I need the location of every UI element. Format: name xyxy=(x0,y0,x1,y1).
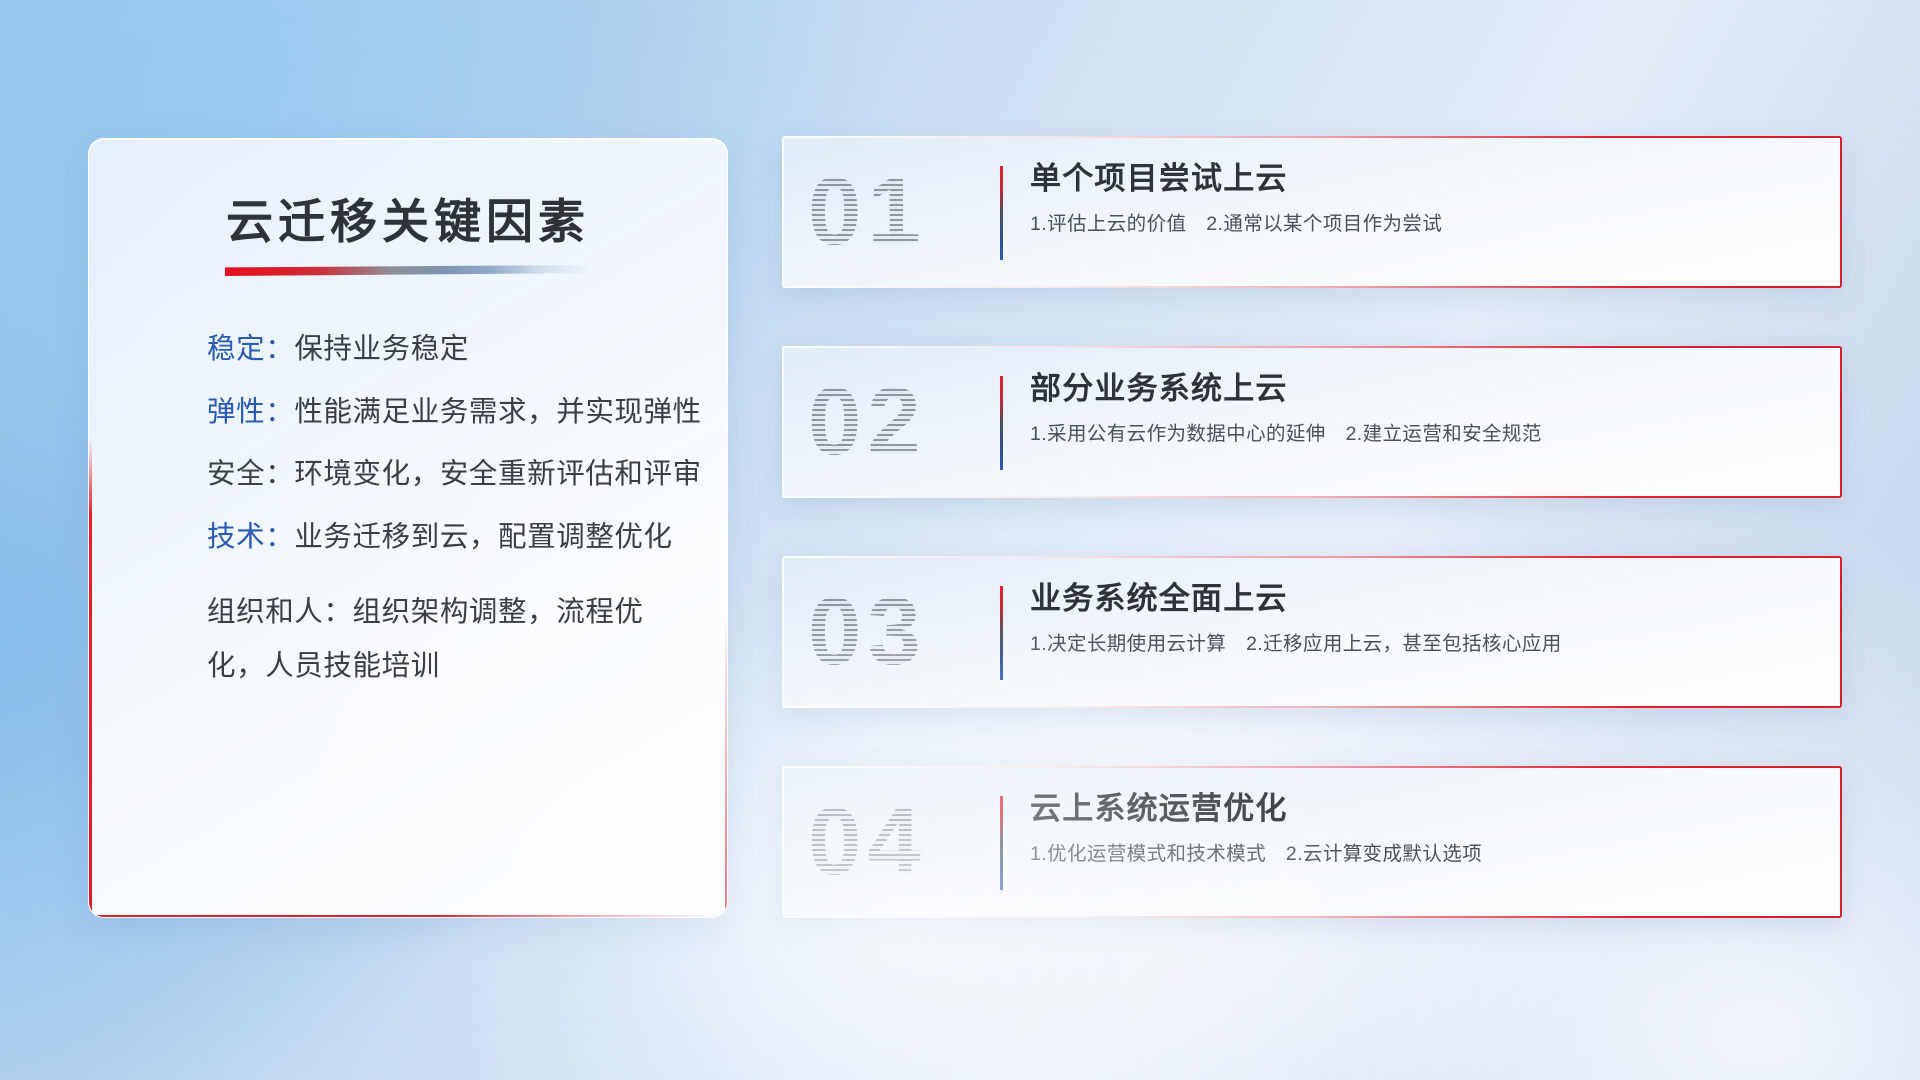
card-divider-bar xyxy=(1000,586,1003,680)
card-left-border xyxy=(782,766,784,918)
card-bottom-border xyxy=(782,916,1842,918)
factor-list: 稳定：保持业务稳定 弹性：性能满足业务需求，并实现弹性 安全：环境变化，安全重新… xyxy=(207,335,681,727)
stage-card-03[interactable]: 03 业务系统全面上云 1.决定长期使用云计算 2.迁移应用上云，甚至包括核心应… xyxy=(782,556,1842,708)
panel-accent-left-border xyxy=(89,439,92,917)
card-right-border xyxy=(1840,766,1842,918)
card-text-block: 业务系统全面上云 1.决定长期使用云计算 2.迁移应用上云，甚至包括核心应用 xyxy=(1030,580,1814,657)
card-text-block: 单个项目尝试上云 1.评估上云的价值 2.通常以某个项目作为尝试 xyxy=(1030,160,1814,237)
card-subtitle: 1.优化运营模式和技术模式 2.云计算变成默认选项 xyxy=(1030,842,1814,867)
card-subtitle: 1.采用公有云作为数据中心的延伸 2.建立运营和安全规范 xyxy=(1030,422,1814,447)
card-title: 业务系统全面上云 xyxy=(1030,580,1814,619)
stage-card-01[interactable]: 01 单个项目尝试上云 1.评估上云的价值 2.通常以某个项目作为尝试 xyxy=(782,136,1842,288)
card-bottom-border xyxy=(782,706,1842,708)
factor-item-security: 安全：环境变化，安全重新评估和评审 xyxy=(207,460,681,489)
card-top-border xyxy=(782,556,1842,558)
factor-key: 安全： xyxy=(207,458,294,490)
card-top-border xyxy=(782,766,1842,768)
card-title: 云上系统运营优化 xyxy=(1030,790,1814,829)
card-divider-bar xyxy=(1000,796,1003,890)
card-top-border xyxy=(782,136,1842,138)
card-right-border xyxy=(1840,346,1842,498)
factor-key: 技术： xyxy=(207,521,294,553)
factor-value: 性能满足业务需求，并实现弹性 xyxy=(294,396,701,428)
factor-key: 稳定： xyxy=(207,333,294,365)
card-bottom-border xyxy=(782,496,1842,498)
stage-number-04: 04 xyxy=(808,794,927,890)
card-subtitle: 1.决定长期使用云计算 2.迁移应用上云，甚至包括核心应用 xyxy=(1030,632,1814,657)
stage-card-04[interactable]: 04 云上系统运营优化 1.优化运营模式和技术模式 2.云计算变成默认选项 xyxy=(782,766,1842,918)
factor-value: 环境变化，安全重新评估和评审 xyxy=(294,458,701,490)
card-top-border xyxy=(782,346,1842,348)
slide-canvas: 云迁移关键因素 稳定：保持业务稳定 弹性：性能满足业务需求，并实现弹性 安全：环… xyxy=(0,0,1920,1080)
factor-item-elasticity: 弹性：性能满足业务需求，并实现弹性 xyxy=(207,398,681,427)
factor-value: 保持业务稳定 xyxy=(294,333,469,365)
card-title: 部分业务系统上云 xyxy=(1030,370,1814,409)
key-factors-panel: 云迁移关键因素 稳定：保持业务稳定 弹性：性能满足业务需求，并实现弹性 安全：环… xyxy=(88,138,728,918)
factor-key: 弹性： xyxy=(207,396,294,428)
factor-item-organization-people: 组织和人：组织架构调整，流程优化，人员技能培训 xyxy=(207,585,681,693)
stage-card-list: 01 单个项目尝试上云 1.评估上云的价值 2.通常以某个项目作为尝试 02 部… xyxy=(782,136,1842,976)
card-bottom-border xyxy=(782,286,1842,288)
card-left-border xyxy=(782,556,784,708)
card-right-border xyxy=(1840,136,1842,288)
factor-value: 业务迁移到云，配置调整优化 xyxy=(294,521,672,553)
factor-item-technology: 技术：业务迁移到云，配置调整优化 xyxy=(207,523,681,552)
card-title: 单个项目尝试上云 xyxy=(1030,160,1814,199)
card-left-border xyxy=(782,136,784,288)
card-right-border xyxy=(1840,556,1842,708)
card-text-block: 云上系统运营优化 1.优化运营模式和技术模式 2.云计算变成默认选项 xyxy=(1030,790,1814,867)
stage-number-03: 03 xyxy=(808,584,927,680)
factor-key: 组织和人： xyxy=(207,596,353,628)
panel-title: 云迁移关键因素 xyxy=(89,183,727,252)
factor-item-stability: 稳定：保持业务稳定 xyxy=(207,335,681,364)
panel-accent-bottom-border xyxy=(89,915,727,918)
card-subtitle: 1.评估上云的价值 2.通常以某个项目作为尝试 xyxy=(1030,212,1814,237)
card-divider-bar xyxy=(1000,166,1003,260)
title-gradient-rule xyxy=(225,265,593,276)
stage-number-01: 01 xyxy=(808,164,927,260)
panel-accent-right-border xyxy=(725,617,728,917)
card-text-block: 部分业务系统上云 1.采用公有云作为数据中心的延伸 2.建立运营和安全规范 xyxy=(1030,370,1814,447)
card-divider-bar xyxy=(1000,376,1003,470)
card-left-border xyxy=(782,346,784,498)
stage-number-02: 02 xyxy=(808,374,927,470)
stage-card-02[interactable]: 02 部分业务系统上云 1.采用公有云作为数据中心的延伸 2.建立运营和安全规范 xyxy=(782,346,1842,498)
